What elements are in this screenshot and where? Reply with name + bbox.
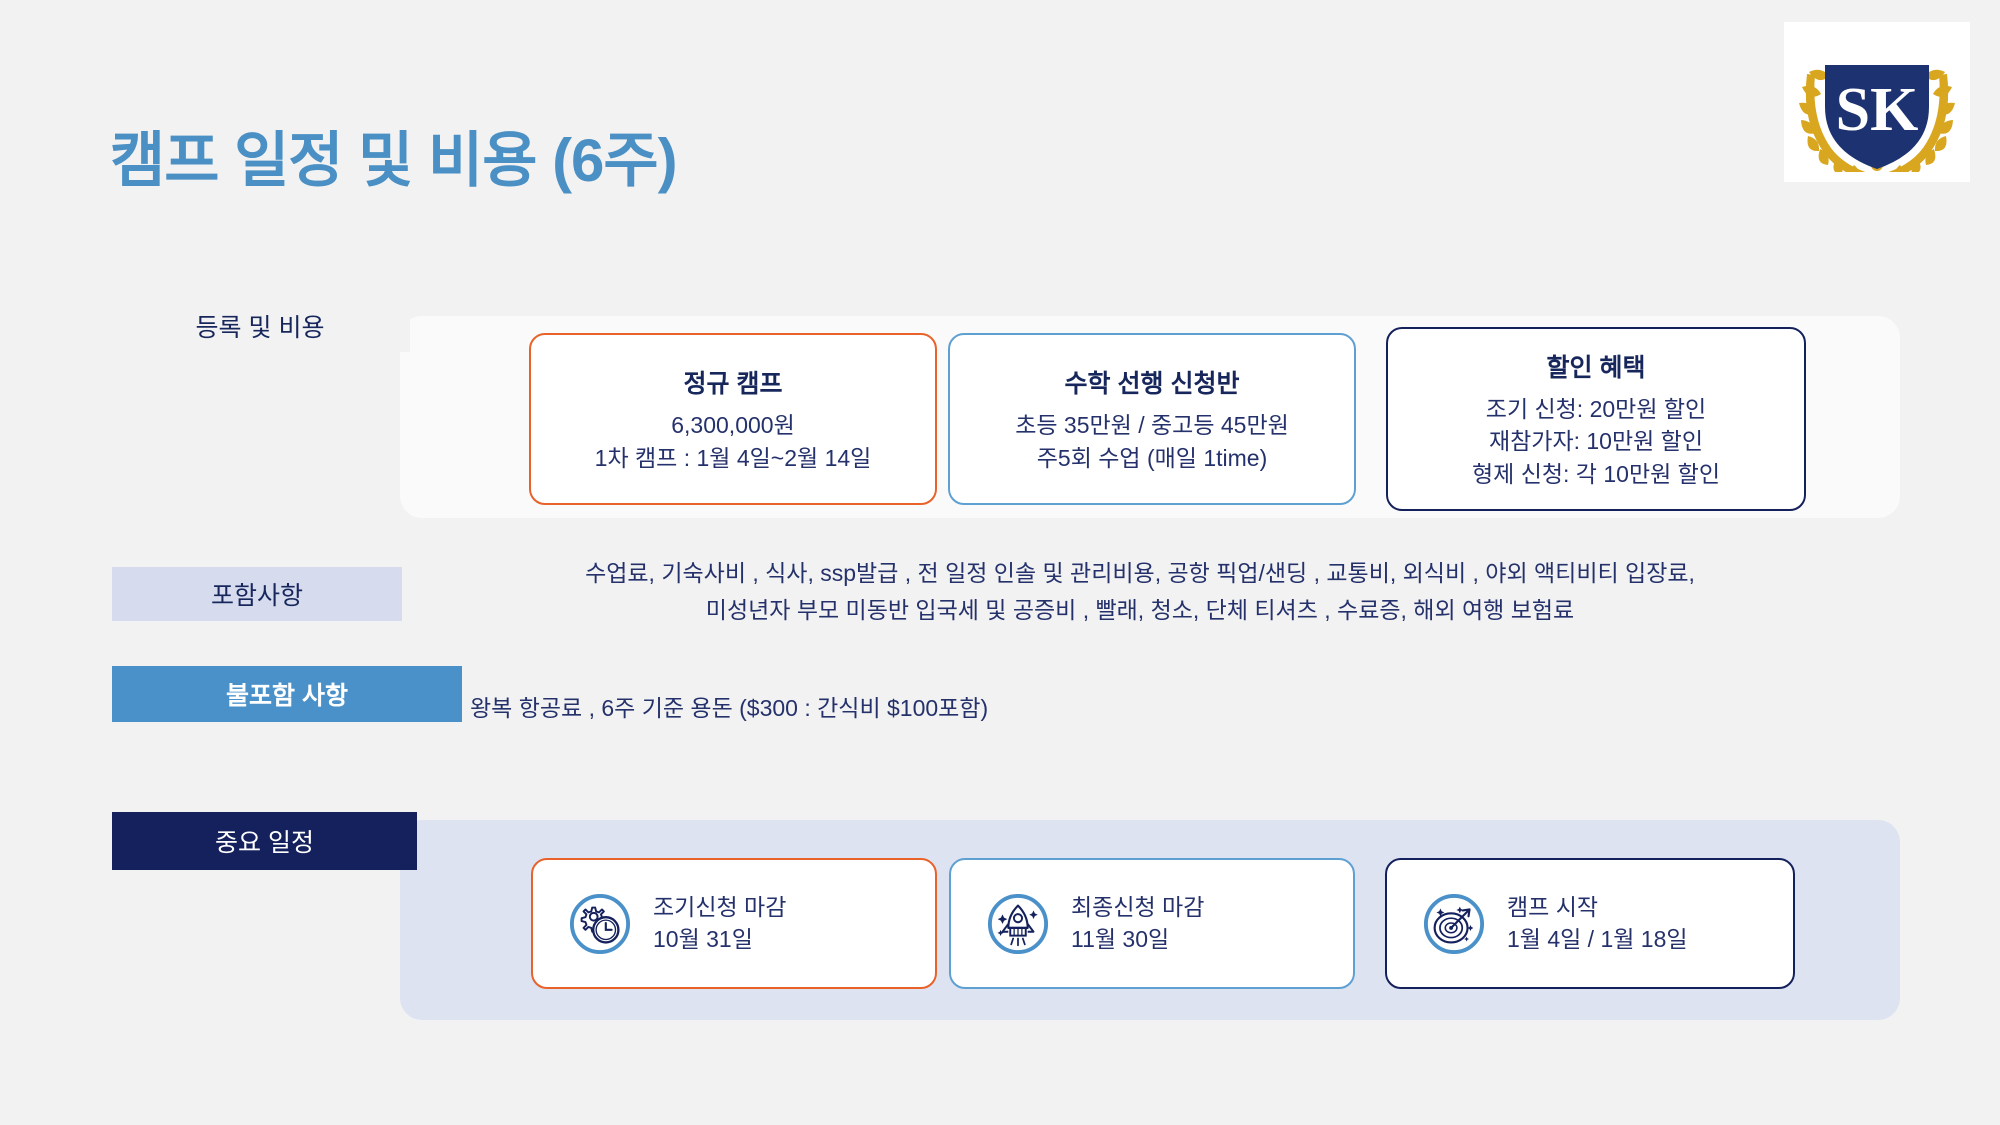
milestone-title: 캠프 시작: [1507, 892, 1688, 923]
target-dart-icon: [1423, 893, 1485, 955]
milestone-title: 조기신청 마감: [653, 892, 786, 923]
milestone-card-final-deadline[interactable]: 최종신청 마감 11월 30일: [949, 858, 1355, 989]
cost-card-line: 조기 신청: 20만원 할인: [1486, 393, 1706, 426]
cost-card-title: 할인 혜택: [1547, 348, 1646, 384]
section-label-excluded: 불포함 사항: [112, 666, 462, 722]
cost-card-math-prep[interactable]: 수학 선행 신청반 초등 35만원 / 중고등 45만원 주5회 수업 (매일 …: [948, 333, 1356, 505]
milestone-date: 10월 31일: [653, 924, 786, 955]
milestone-text: 조기신청 마감 10월 31일: [653, 892, 786, 954]
included-line-2: 미성년자 부모 미동반 입국세 및 공증비 , 빨래, 청소, 단체 티셔츠 ,…: [470, 592, 1810, 629]
excluded-line-1: 왕복 항공료 , 6주 기준 용돈 ($300 : 간식비 $100포함): [470, 690, 1470, 727]
slide-root: SK 캠프 일정 및 비용 (6주) 등록 및 비용 정규 캠프 6,300,0…: [0, 0, 2000, 1125]
cost-card-title: 수학 선행 신청반: [1065, 364, 1240, 400]
excluded-text-block: 왕복 항공료 , 6주 기준 용돈 ($300 : 간식비 $100포함): [470, 690, 1470, 727]
milestone-date: 11월 30일: [1071, 924, 1204, 955]
sk-logo: SK: [1784, 22, 1970, 182]
milestone-text: 최종신청 마감 11월 30일: [1071, 892, 1204, 954]
milestone-title: 최종신청 마감: [1071, 892, 1204, 923]
cost-card-line: 형제 신청: 각 10만원 할인: [1472, 458, 1720, 491]
milestone-date: 1월 4일 / 1월 18일: [1507, 924, 1688, 955]
cost-card-line: 초등 35만원 / 중고등 45만원: [1015, 409, 1289, 442]
rocket-icon: [987, 893, 1049, 955]
gear-clock-icon: [569, 893, 631, 955]
cost-card-line: 재참가자: 10만원 할인: [1489, 425, 1703, 458]
section-label-included: 포함사항: [112, 567, 402, 621]
milestone-card-camp-start[interactable]: 캠프 시작 1월 4일 / 1월 18일: [1385, 858, 1795, 989]
milestone-text: 캠프 시작 1월 4일 / 1월 18일: [1507, 892, 1688, 954]
milestone-card-early-deadline[interactable]: 조기신청 마감 10월 31일: [531, 858, 937, 989]
included-line-1: 수업료, 기숙사비 , 식사, ssp발급 , 전 일정 인솔 및 관리비용, …: [470, 555, 1810, 592]
page-title: 캠프 일정 및 비용 (6주): [110, 112, 677, 199]
sk-logo-graphic: SK: [1791, 32, 1963, 172]
cost-card-discount[interactable]: 할인 혜택 조기 신청: 20만원 할인 재참가자: 10만원 할인 형제 신청…: [1386, 327, 1806, 511]
cost-card-line: 주5회 수업 (매일 1time): [1037, 442, 1267, 475]
section-label-schedule: 중요 일정: [112, 812, 417, 870]
sk-logo-text: SK: [1836, 76, 1919, 144]
cost-card-line: 1차 캠프 : 1월 4일~2월 14일: [595, 442, 872, 475]
cost-card-line: 6,300,000원: [671, 409, 794, 442]
cost-card-title: 정규 캠프: [684, 364, 783, 400]
cost-card-regular[interactable]: 정규 캠프 6,300,000원 1차 캠프 : 1월 4일~2월 14일: [529, 333, 937, 505]
included-text-block: 수업료, 기숙사비 , 식사, ssp발급 , 전 일정 인솔 및 관리비용, …: [470, 555, 1810, 630]
section-label-registration: 등록 및 비용: [110, 300, 410, 352]
